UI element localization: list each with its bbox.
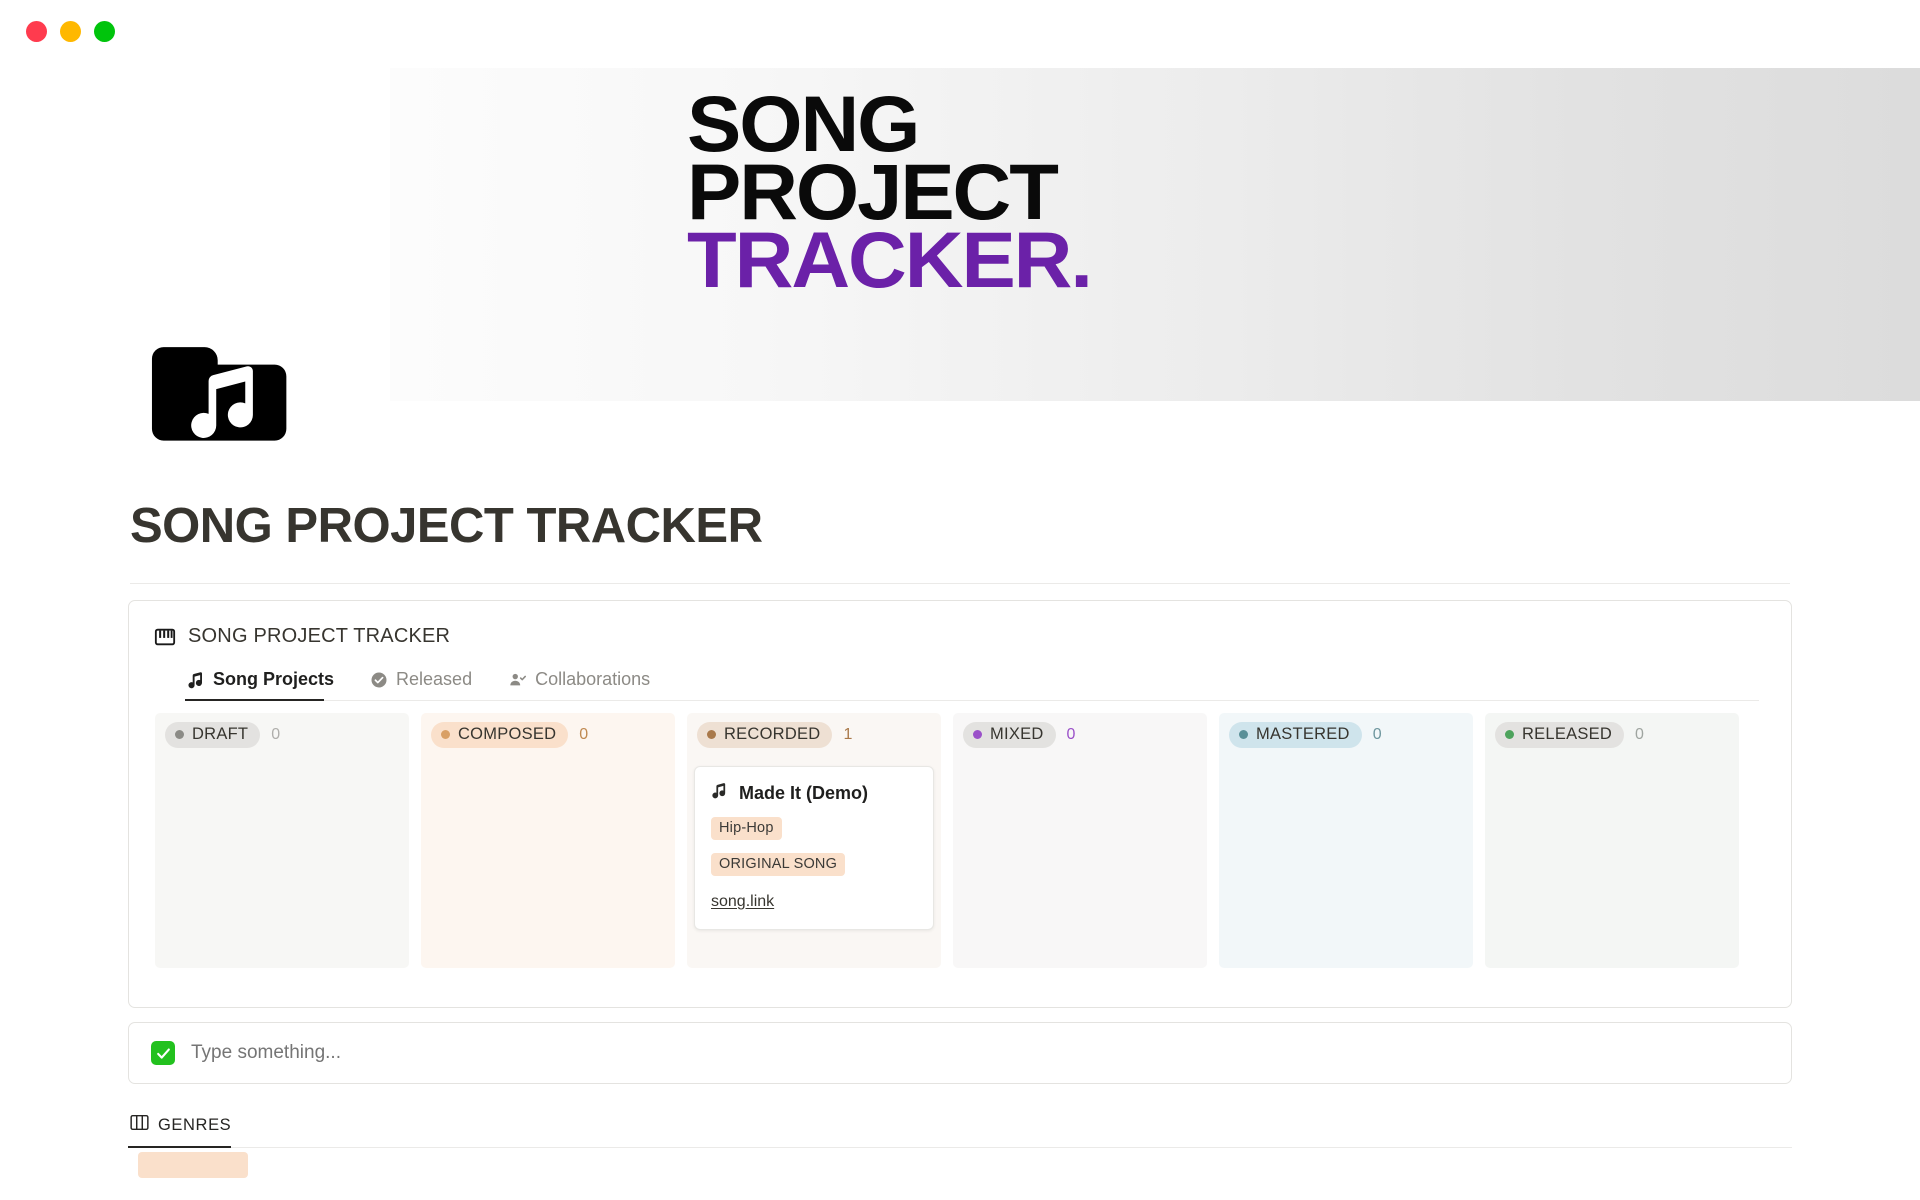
tab-label: Collaborations bbox=[535, 669, 650, 690]
database-view-tabs: Song Projects Released bbox=[185, 665, 1759, 701]
board-column-header[interactable]: MASTERED0 bbox=[1219, 713, 1473, 758]
kanban-board: DRAFT0COMPOSED0RECORDED1Made It (Demo)Hi… bbox=[129, 713, 1791, 968]
status-badge: COMPOSED bbox=[431, 722, 568, 748]
board-column-header[interactable]: COMPOSED0 bbox=[421, 713, 675, 758]
genre-chip[interactable] bbox=[138, 1152, 248, 1178]
board-column-header[interactable]: MIXED0 bbox=[953, 713, 1207, 758]
database-card: SONG PROJECT TRACKER Song Projects bbox=[128, 600, 1792, 1008]
banner-line-3: TRACKER. bbox=[687, 226, 1091, 294]
cover-banner[interactable]: SONG PROJECT TRACKER. bbox=[390, 68, 1920, 401]
window-titlebar bbox=[0, 0, 1920, 62]
title-divider bbox=[130, 583, 1790, 584]
board-column-body[interactable] bbox=[1219, 758, 1473, 968]
status-dot bbox=[1239, 730, 1248, 739]
board-column-header[interactable]: RELEASED0 bbox=[1485, 713, 1739, 758]
status-label: COMPOSED bbox=[458, 725, 556, 744]
column-count: 0 bbox=[1373, 726, 1382, 744]
kanban-card-title-row: Made It (Demo) bbox=[711, 782, 917, 804]
kanban-card-title: Made It (Demo) bbox=[739, 783, 868, 804]
status-badge: DRAFT bbox=[165, 722, 260, 748]
music-folder-icon[interactable] bbox=[142, 305, 308, 471]
board-column: DRAFT0 bbox=[155, 713, 421, 968]
person-check-icon bbox=[508, 671, 527, 689]
piano-icon bbox=[154, 626, 176, 648]
board-column-header[interactable]: DRAFT0 bbox=[155, 713, 409, 758]
board-column-body[interactable] bbox=[421, 758, 675, 968]
tab-genres[interactable]: GENRES bbox=[128, 1112, 243, 1147]
genres-body bbox=[128, 1152, 248, 1183]
status-dot bbox=[175, 730, 184, 739]
page-title: SONG PROJECT TRACKER bbox=[130, 498, 763, 554]
music-note-icon bbox=[187, 671, 205, 689]
status-badge: RECORDED bbox=[697, 722, 832, 748]
status-label: MASTERED bbox=[1256, 725, 1350, 744]
app-window: SONG PROJECT TRACKER. SONG PROJECT TRACK… bbox=[0, 0, 1920, 1200]
status-label: RECORDED bbox=[724, 725, 820, 744]
check-circle-icon bbox=[370, 671, 388, 689]
status-badge: RELEASED bbox=[1495, 722, 1624, 748]
tab-released[interactable]: Released bbox=[368, 665, 482, 700]
kanban-card[interactable]: Made It (Demo)Hip-HopORIGINAL SONGsong.l… bbox=[694, 766, 934, 930]
green-check-icon bbox=[151, 1041, 175, 1065]
banner-wordmark: SONG PROJECT TRACKER. bbox=[687, 90, 1079, 294]
board-column: MIXED0 bbox=[953, 713, 1219, 968]
status-dot bbox=[707, 730, 716, 739]
board-column: RELEASED0 bbox=[1485, 713, 1751, 968]
column-count: 0 bbox=[579, 726, 588, 744]
board-column: RECORDED1Made It (Demo)Hip-HopORIGINAL S… bbox=[687, 713, 953, 968]
status-label: DRAFT bbox=[192, 725, 248, 744]
kanban-card-link[interactable]: song.link bbox=[711, 893, 917, 911]
column-count: 0 bbox=[271, 726, 280, 744]
column-count: 1 bbox=[843, 726, 852, 744]
board-column-body[interactable] bbox=[953, 758, 1207, 968]
composer-input[interactable] bbox=[191, 1042, 791, 1064]
board-column-header[interactable]: RECORDED1 bbox=[687, 713, 941, 758]
music-note-icon bbox=[711, 782, 728, 804]
minimize-button[interactable] bbox=[60, 21, 81, 42]
board-columns-icon bbox=[130, 1114, 149, 1136]
database-header: SONG PROJECT TRACKER bbox=[129, 601, 1791, 648]
board-column-body[interactable] bbox=[1485, 758, 1739, 968]
tab-song-projects[interactable]: Song Projects bbox=[185, 665, 344, 700]
tab-label: Released bbox=[396, 669, 472, 690]
close-button[interactable] bbox=[26, 21, 47, 42]
kanban-card-tag: Hip-Hop bbox=[711, 817, 782, 840]
status-badge: MASTERED bbox=[1229, 722, 1362, 748]
status-label: RELEASED bbox=[1522, 725, 1612, 744]
genres-view-tabs: GENRES bbox=[128, 1112, 1792, 1148]
column-count: 0 bbox=[1067, 726, 1076, 744]
status-dot bbox=[441, 730, 450, 739]
status-dot bbox=[1505, 730, 1514, 739]
tab-label: Song Projects bbox=[213, 669, 334, 690]
board-column-body[interactable] bbox=[155, 758, 409, 968]
maximize-button[interactable] bbox=[94, 21, 115, 42]
tab-collaborations[interactable]: Collaborations bbox=[506, 665, 660, 700]
board-column: MASTERED0 bbox=[1219, 713, 1485, 968]
status-label: MIXED bbox=[990, 725, 1044, 744]
kanban-card-tag: ORIGINAL SONG bbox=[711, 853, 845, 876]
board-column-body[interactable]: Made It (Demo)Hip-HopORIGINAL SONGsong.l… bbox=[687, 758, 941, 968]
board-column: COMPOSED0 bbox=[421, 713, 687, 968]
column-count: 0 bbox=[1635, 726, 1644, 744]
database-title: SONG PROJECT TRACKER bbox=[188, 625, 450, 648]
tab-label: GENRES bbox=[158, 1116, 231, 1135]
status-badge: MIXED bbox=[963, 722, 1056, 748]
status-dot bbox=[973, 730, 982, 739]
composer-input-bar[interactable] bbox=[128, 1022, 1792, 1084]
